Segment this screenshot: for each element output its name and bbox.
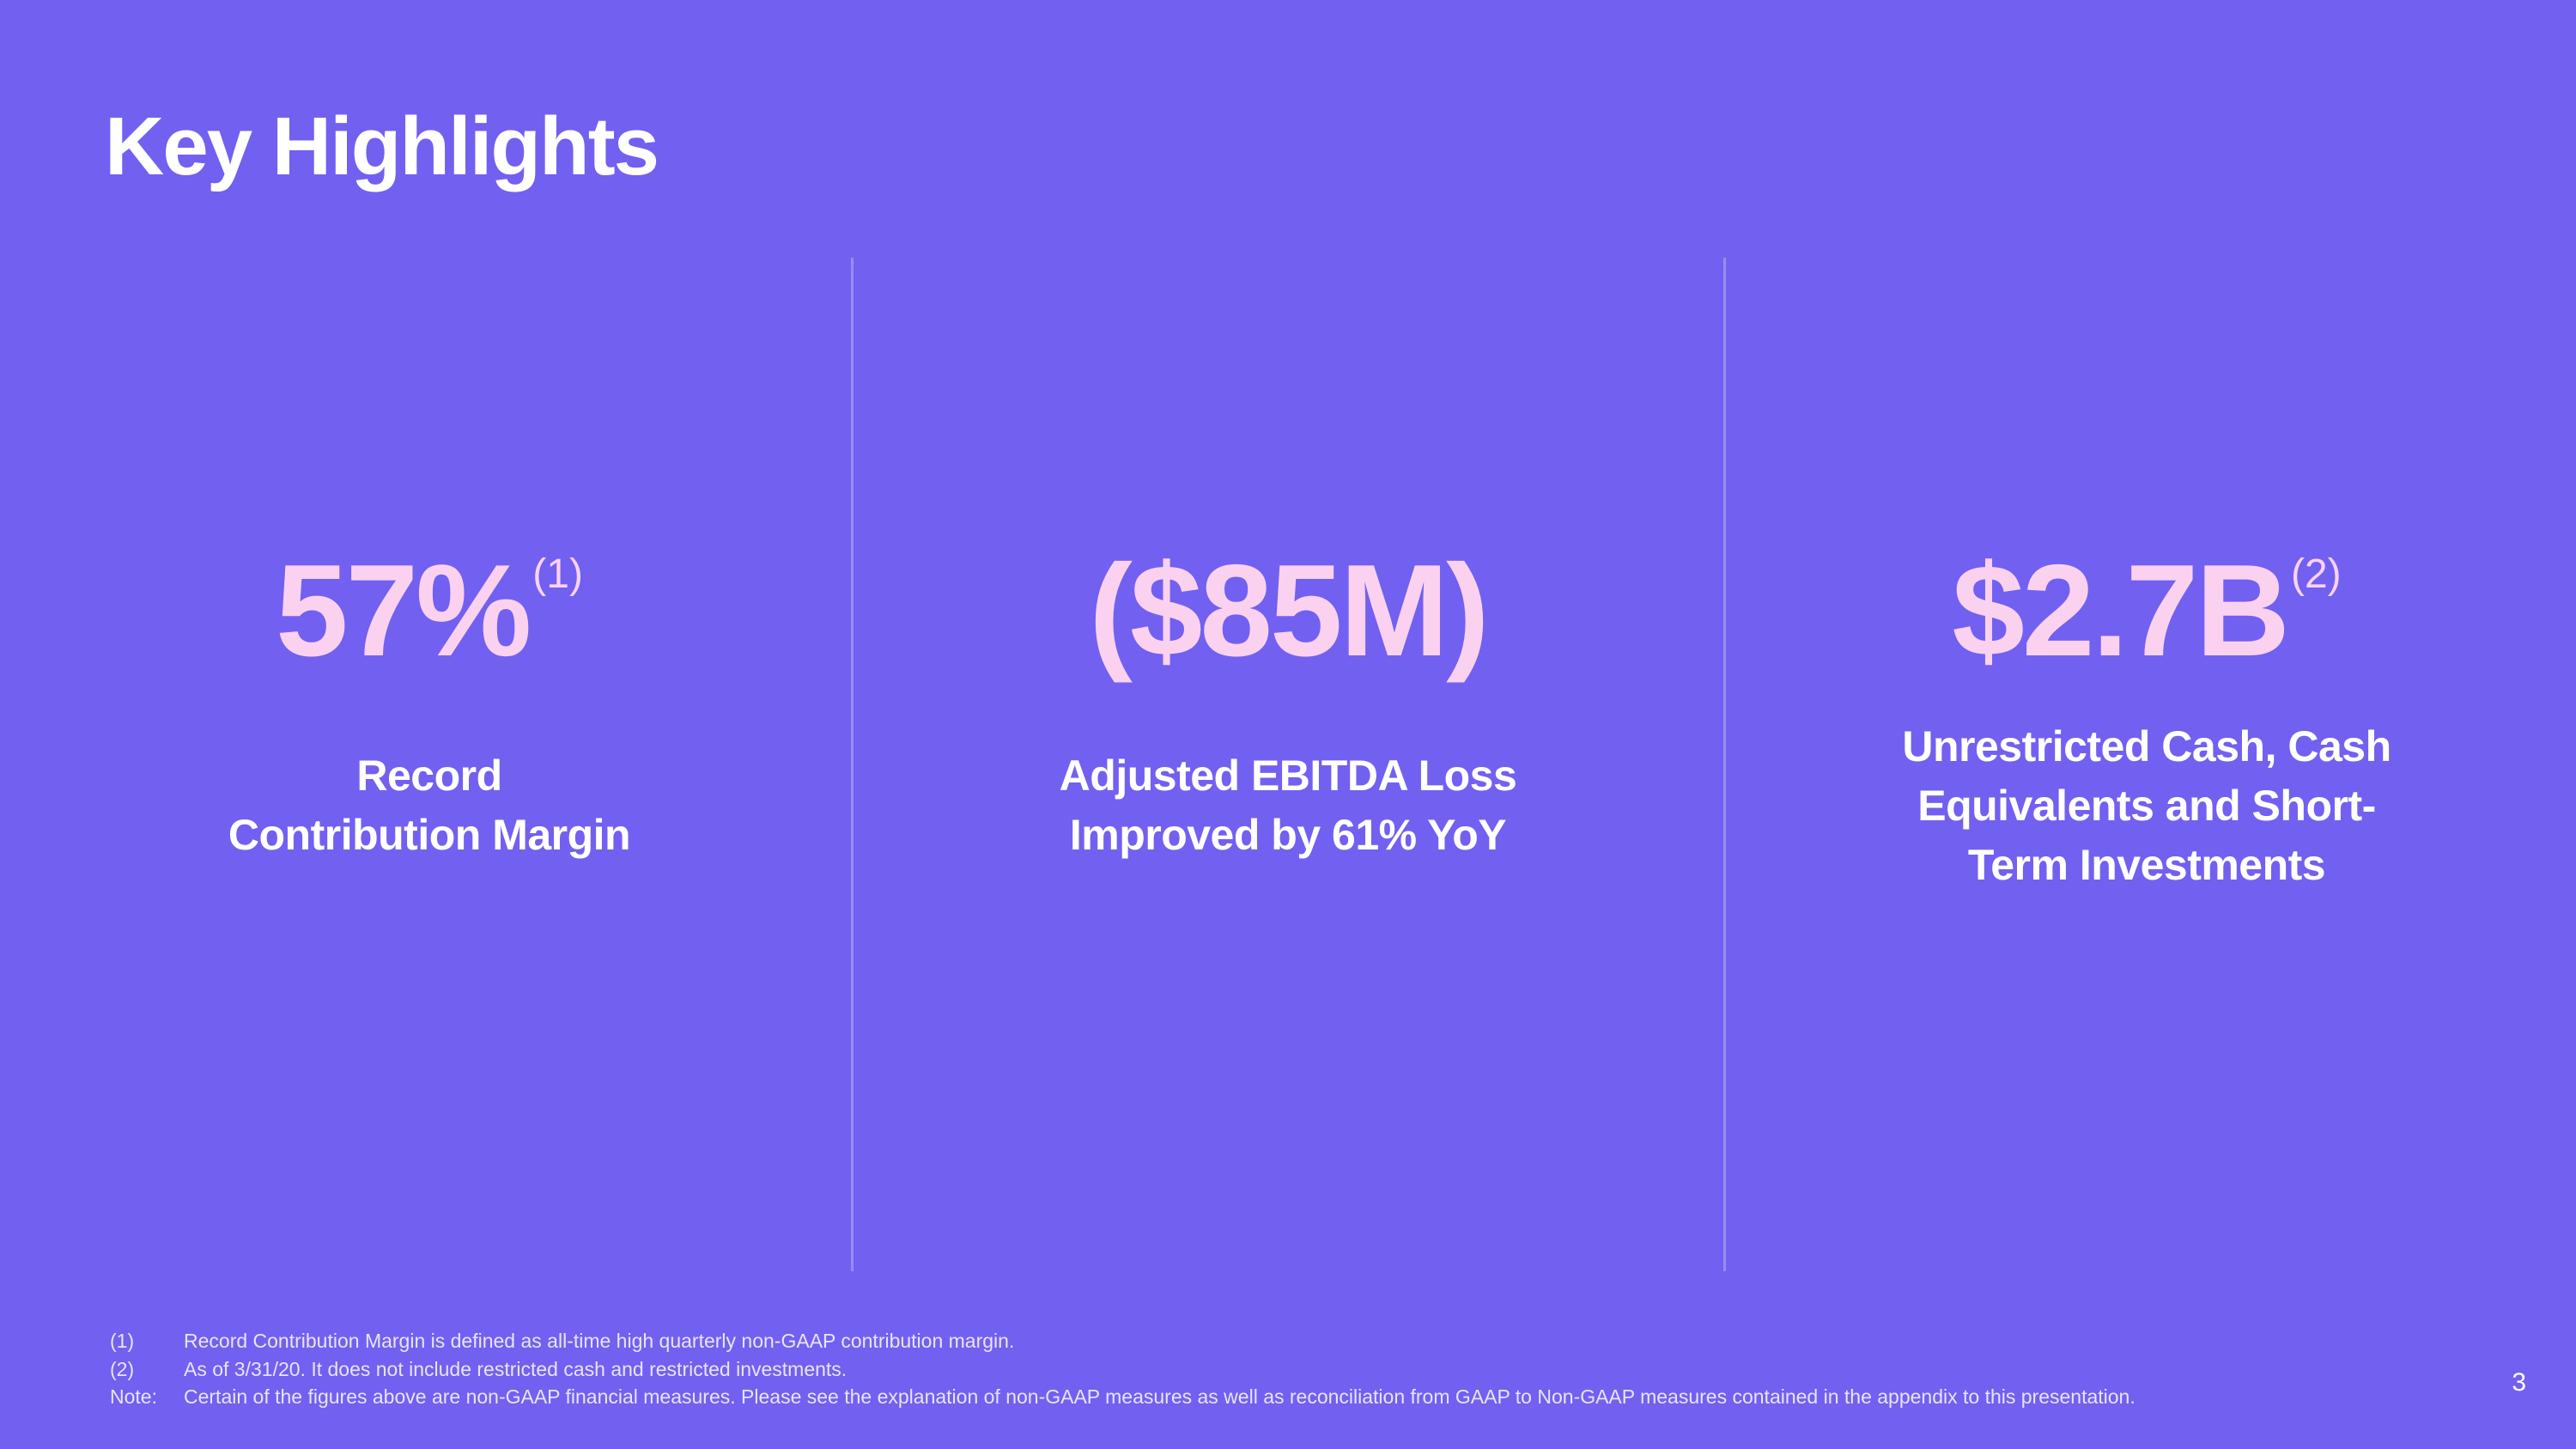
- footnotes: (1) Record Contribution Margin is define…: [110, 1327, 2136, 1411]
- footnote-marker: Note:: [110, 1383, 184, 1411]
- stat-value: ($85M): [1089, 545, 1486, 676]
- stat-superscript: (2): [2291, 554, 2342, 595]
- stat-superscript: (1): [532, 554, 583, 595]
- stat-block: 57% (1): [52, 545, 807, 676]
- footnote-marker: (2): [110, 1355, 184, 1384]
- stat-block: $2.7B (2): [1769, 545, 2524, 676]
- highlight-column-2: ($85M) Adjusted EBITDA Loss Improved by …: [859, 258, 1717, 1271]
- stat-caption: Record Contribution Margin: [228, 746, 630, 865]
- page-number: 3: [2512, 1370, 2526, 1396]
- highlight-column-3: $2.7B (2) Unrestricted Cash, Cash Equiva…: [1717, 258, 2576, 1271]
- footnote-text: Certain of the figures above are non-GAA…: [184, 1383, 2136, 1411]
- footnote-text: As of 3/31/20. It does not include restr…: [184, 1355, 847, 1384]
- footnote-row: (2) As of 3/31/20. It does not include r…: [110, 1355, 2136, 1384]
- stat-caption: Unrestricted Cash, Cash Equivalents and …: [1902, 717, 2391, 895]
- slide: Key Highlights 57% (1) Record Contributi…: [0, 0, 2576, 1449]
- stat-value: 57%: [276, 545, 529, 676]
- footnote-text: Record Contribution Margin is defined as…: [184, 1327, 1014, 1355]
- footnote-row: (1) Record Contribution Margin is define…: [110, 1327, 2136, 1355]
- footnote-row: Note: Certain of the figures above are n…: [110, 1383, 2136, 1411]
- highlights-row: 57% (1) Record Contribution Margin ($85M…: [0, 258, 2576, 1271]
- stat-caption: Adjusted EBITDA Loss Improved by 61% YoY: [1060, 746, 1517, 865]
- footnote-marker: (1): [110, 1327, 184, 1355]
- stat-value: $2.7B: [1952, 545, 2287, 676]
- page-title: Key Highlights: [105, 101, 658, 192]
- highlight-column-1: 57% (1) Record Contribution Margin: [0, 258, 859, 1271]
- stat-block: ($85M): [910, 545, 1666, 676]
